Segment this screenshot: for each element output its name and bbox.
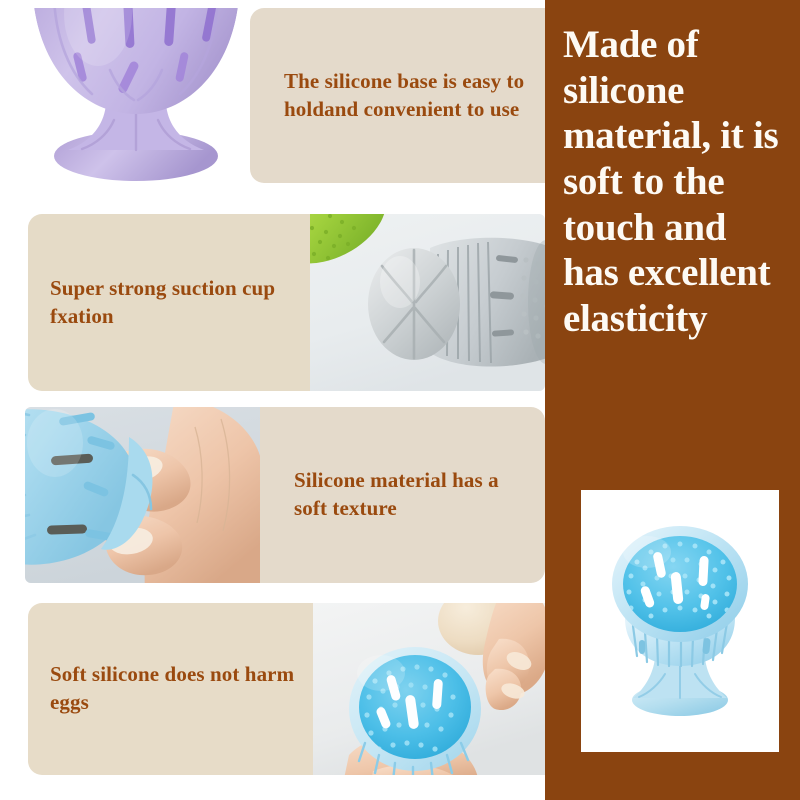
feature-caption-box-4: Soft silicone does not harm eggs	[28, 603, 313, 775]
feature-caption-box-1: The silicone base is easy to holdand con…	[250, 8, 545, 183]
feature-caption-box-2: Super strong suction cup fxation	[28, 214, 310, 391]
headline-text: Made of silicone material, it is soft to…	[563, 22, 785, 341]
purple-silicone-egg-washer-photo	[20, 8, 252, 183]
product-infographic-poster: The silicone base is easy to holdand con…	[0, 0, 800, 800]
brand-headline-panel: Made of silicone material, it is soft to…	[545, 0, 800, 800]
feature-caption-4: Soft silicone does not harm eggs	[50, 661, 295, 716]
feature-section-2: Super strong suction cup fxation	[0, 214, 545, 391]
feature-caption-box-3: Silicone material has a soft texture	[260, 407, 545, 583]
feature-caption-3: Silicone material has a soft texture	[294, 467, 532, 522]
hand-holding-washer-with-egg-photo	[313, 603, 545, 775]
hero-product-card	[581, 490, 779, 752]
gray-washer-suction-cup-photo	[310, 214, 545, 391]
feature-caption-2: Super strong suction cup fxation	[50, 275, 300, 330]
feature-section-4: Soft silicone does not harm eggs	[0, 603, 545, 775]
feature-section-3: Silicone material has a soft texture	[0, 407, 545, 583]
feature-section-1: The silicone base is easy to holdand con…	[0, 8, 545, 183]
hand-flexing-blue-washer-photo	[25, 407, 260, 583]
feature-caption-1: The silicone base is easy to holdand con…	[284, 68, 532, 123]
blue-silicone-egg-washer-hero-photo	[581, 490, 779, 752]
